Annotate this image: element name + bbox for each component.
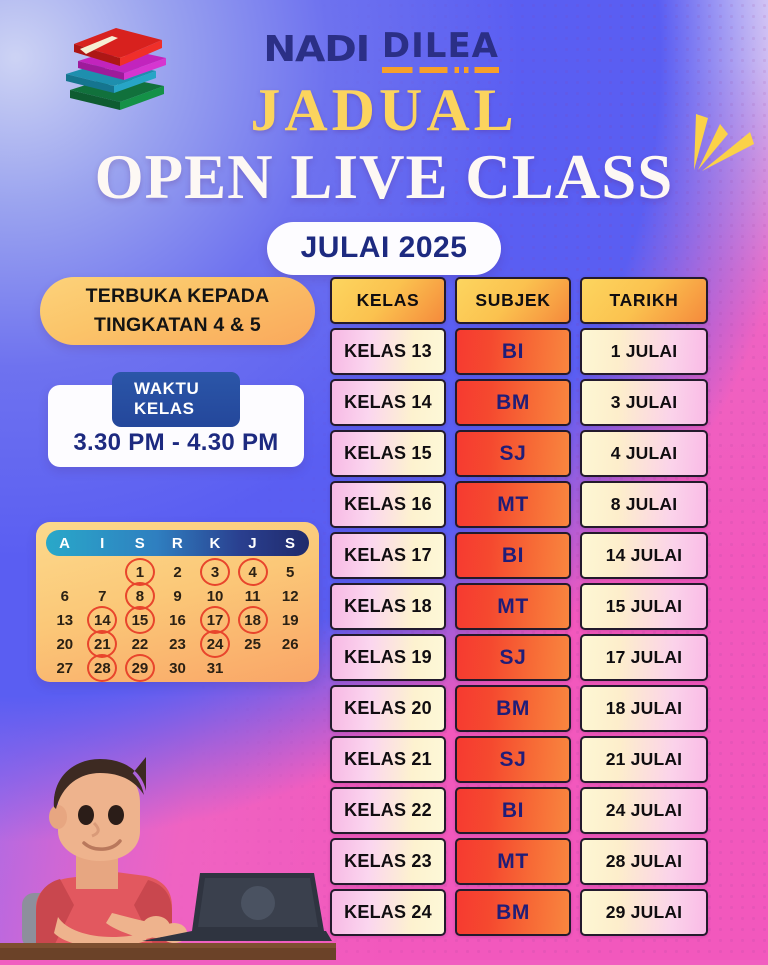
column-header-label: KELAS bbox=[357, 290, 420, 311]
date-cell-label: 15 JULAI bbox=[606, 596, 683, 617]
class-cell-label: KELAS 16 bbox=[344, 494, 432, 515]
table-row[interactable]: KELAS 19SJ17 JULAI bbox=[330, 634, 708, 681]
subject-cell-label: MT bbox=[497, 595, 529, 619]
calendar-weekday-1: I bbox=[84, 535, 122, 552]
subject-cell-label: MT bbox=[497, 850, 529, 874]
date-cell-label: 14 JULAI bbox=[606, 545, 683, 566]
calendar-empty-cell bbox=[46, 560, 84, 584]
subject-cell-label: SJ bbox=[500, 748, 527, 772]
subject-cell-label: BM bbox=[496, 391, 530, 415]
class-cell: KELAS 13 bbox=[330, 328, 446, 375]
calendar-day-highlighted[interactable]: 15 bbox=[121, 608, 159, 632]
class-cell-label: KELAS 17 bbox=[344, 545, 432, 566]
column-header-tarikh: TARIKH bbox=[580, 277, 708, 324]
eligibility-line-1: TERBUKA KEPADA bbox=[86, 282, 270, 311]
class-cell: KELAS 23 bbox=[330, 838, 446, 885]
column-header-kelas: KELAS bbox=[330, 277, 446, 324]
column-header-label: TARIKH bbox=[609, 290, 678, 311]
month-badge-label: JULAI 2025 bbox=[301, 231, 468, 264]
table-row[interactable]: KELAS 15SJ4 JULAI bbox=[330, 430, 708, 477]
subject-cell: MT bbox=[455, 481, 571, 528]
month-calendar: AISRKJS 12345678910111213141516171819202… bbox=[36, 522, 319, 682]
schedule-header-row: KELASSUBJEKTARIKH bbox=[330, 277, 708, 324]
date-cell: 14 JULAI bbox=[580, 532, 708, 579]
date-cell: 29 JULAI bbox=[580, 889, 708, 936]
subject-cell-label: BI bbox=[502, 544, 524, 568]
calendar-day[interactable]: 20 bbox=[46, 632, 84, 656]
table-row[interactable]: KELAS 21SJ21 JULAI bbox=[330, 736, 708, 783]
brand-dash-underline bbox=[382, 67, 499, 73]
date-cell-label: 3 JULAI bbox=[611, 392, 678, 413]
subject-cell: SJ bbox=[455, 430, 571, 477]
table-row[interactable]: KELAS 24BM29 JULAI bbox=[330, 889, 708, 936]
date-cell: 21 JULAI bbox=[580, 736, 708, 783]
schedule-table: KELASSUBJEKTARIKHKELAS 13BI1 JULAIKELAS … bbox=[330, 277, 708, 936]
calendar-day[interactable]: 31 bbox=[196, 656, 234, 680]
date-cell: 8 JULAI bbox=[580, 481, 708, 528]
class-cell-label: KELAS 20 bbox=[344, 698, 432, 719]
subject-cell-label: BM bbox=[496, 697, 530, 721]
subject-cell-label: SJ bbox=[500, 442, 527, 466]
eligibility-line-2: TINGKATAN 4 & 5 bbox=[94, 311, 261, 340]
calendar-weekday-header: AISRKJS bbox=[46, 530, 309, 556]
class-cell: KELAS 20 bbox=[330, 685, 446, 732]
subject-cell: BM bbox=[455, 889, 571, 936]
brand-name-primary: NADI bbox=[263, 29, 369, 70]
subject-cell-label: BI bbox=[502, 340, 524, 364]
calendar-day[interactable]: 6 bbox=[46, 584, 84, 608]
calendar-day-highlighted[interactable]: 21 bbox=[84, 632, 122, 656]
calendar-day[interactable]: 26 bbox=[271, 632, 309, 656]
class-cell-label: KELAS 18 bbox=[344, 596, 432, 617]
class-cell-label: KELAS 19 bbox=[344, 647, 432, 668]
calendar-weekday-3: R bbox=[159, 535, 197, 552]
table-row[interactable]: KELAS 14BM3 JULAI bbox=[330, 379, 708, 426]
date-cell: 24 JULAI bbox=[580, 787, 708, 834]
date-cell: 15 JULAI bbox=[580, 583, 708, 630]
class-cell: KELAS 19 bbox=[330, 634, 446, 681]
class-cell: KELAS 18 bbox=[330, 583, 446, 630]
table-row[interactable]: KELAS 20BM18 JULAI bbox=[330, 685, 708, 732]
class-time-label: WAKTU KELAS bbox=[134, 379, 199, 418]
calendar-day-highlighted[interactable]: 24 bbox=[196, 632, 234, 656]
date-cell-label: 28 JULAI bbox=[606, 851, 683, 872]
table-row[interactable]: KELAS 17BI14 JULAI bbox=[330, 532, 708, 579]
subject-cell: BI bbox=[455, 787, 571, 834]
class-cell-label: KELAS 15 bbox=[344, 443, 432, 464]
calendar-day[interactable]: 27 bbox=[46, 656, 84, 680]
class-cell: KELAS 22 bbox=[330, 787, 446, 834]
subject-cell: SJ bbox=[455, 634, 571, 681]
subject-cell: MT bbox=[455, 583, 571, 630]
class-cell: KELAS 15 bbox=[330, 430, 446, 477]
class-cell: KELAS 14 bbox=[330, 379, 446, 426]
calendar-day[interactable]: 2 bbox=[159, 560, 197, 584]
subject-cell-label: MT bbox=[497, 493, 529, 517]
class-cell: KELAS 21 bbox=[330, 736, 446, 783]
eligibility-banner: TERBUKA KEPADA TINGKATAN 4 & 5 bbox=[40, 277, 315, 345]
calendar-weekday-6: S bbox=[271, 535, 309, 552]
calendar-weekday-4: K bbox=[196, 535, 234, 552]
date-cell: 3 JULAI bbox=[580, 379, 708, 426]
class-cell-label: KELAS 14 bbox=[344, 392, 432, 413]
class-time-card: WAKTU KELAS 3.30 PM - 4.30 PM bbox=[48, 385, 304, 467]
table-row[interactable]: KELAS 18MT15 JULAI bbox=[330, 583, 708, 630]
calendar-day[interactable]: 16 bbox=[159, 608, 197, 632]
date-cell-label: 4 JULAI bbox=[611, 443, 678, 464]
date-cell-label: 8 JULAI bbox=[611, 494, 678, 515]
calendar-weekday-0: A bbox=[46, 535, 84, 552]
calendar-weekday-5: J bbox=[234, 535, 272, 552]
calendar-day[interactable]: 11 bbox=[234, 584, 272, 608]
date-cell: 4 JULAI bbox=[580, 430, 708, 477]
subject-cell: BI bbox=[455, 328, 571, 375]
calendar-day-highlighted[interactable]: 29 bbox=[121, 656, 159, 680]
page-title: JADUAL bbox=[0, 80, 768, 140]
calendar-day-grid: 1234567891011121314151617181920212223242… bbox=[46, 560, 309, 680]
subject-cell: SJ bbox=[455, 736, 571, 783]
table-row[interactable]: KELAS 22BI24 JULAI bbox=[330, 787, 708, 834]
class-cell-label: KELAS 21 bbox=[344, 749, 432, 770]
subject-cell: BM bbox=[455, 379, 571, 426]
class-cell-label: KELAS 22 bbox=[344, 800, 432, 821]
date-cell: 18 JULAI bbox=[580, 685, 708, 732]
subject-cell: BM bbox=[455, 685, 571, 732]
brand-name-secondary: DILEA bbox=[382, 26, 499, 66]
page-subtitle: OPEN LIVE CLASS bbox=[0, 144, 768, 210]
calendar-day-highlighted[interactable]: 3 bbox=[196, 560, 234, 584]
calendar-day[interactable]: 13 bbox=[46, 608, 84, 632]
calendar-day[interactable]: 23 bbox=[159, 632, 197, 656]
calendar-day-highlighted[interactable]: 28 bbox=[84, 656, 122, 680]
subject-cell: BI bbox=[455, 532, 571, 579]
subject-cell-label: SJ bbox=[500, 646, 527, 670]
class-cell-label: KELAS 23 bbox=[344, 851, 432, 872]
subject-cell-label: BI bbox=[502, 799, 524, 823]
calendar-empty-cell bbox=[84, 560, 122, 584]
calendar-day[interactable]: 12 bbox=[271, 584, 309, 608]
class-cell: KELAS 17 bbox=[330, 532, 446, 579]
calendar-day-highlighted[interactable]: 8 bbox=[121, 584, 159, 608]
poster-title-block: JADUAL OPEN LIVE CLASS JULAI 2025 bbox=[0, 80, 768, 275]
table-row[interactable]: KELAS 13BI1 JULAI bbox=[330, 328, 708, 375]
subject-cell-label: BM bbox=[496, 901, 530, 925]
date-cell: 17 JULAI bbox=[580, 634, 708, 681]
calendar-weekday-2: S bbox=[121, 535, 159, 552]
date-cell-label: 1 JULAI bbox=[611, 341, 678, 362]
column-header-subjek: SUBJEK bbox=[455, 277, 571, 324]
class-cell: KELAS 24 bbox=[330, 889, 446, 936]
calendar-day[interactable]: 30 bbox=[159, 656, 197, 680]
date-cell-label: 24 JULAI bbox=[606, 800, 683, 821]
date-cell: 1 JULAI bbox=[580, 328, 708, 375]
calendar-day-highlighted[interactable]: 4 bbox=[234, 560, 272, 584]
class-cell: KELAS 16 bbox=[330, 481, 446, 528]
month-badge: JULAI 2025 bbox=[267, 222, 502, 275]
calendar-day[interactable]: 22 bbox=[121, 632, 159, 656]
table-row[interactable]: KELAS 16MT8 JULAI bbox=[330, 481, 708, 528]
calendar-day[interactable]: 5 bbox=[271, 560, 309, 584]
date-cell-label: 18 JULAI bbox=[606, 698, 683, 719]
class-time-value: 3.30 PM - 4.30 PM bbox=[48, 429, 304, 457]
calendar-day[interactable]: 19 bbox=[271, 608, 309, 632]
subject-cell: MT bbox=[455, 838, 571, 885]
calendar-day-highlighted[interactable]: 1 bbox=[121, 560, 159, 584]
class-cell-label: KELAS 24 bbox=[344, 902, 432, 923]
date-cell-label: 21 JULAI bbox=[606, 749, 683, 770]
calendar-day-highlighted[interactable]: 17 bbox=[196, 608, 234, 632]
calendar-day[interactable]: 10 bbox=[196, 584, 234, 608]
student-at-laptop-icon bbox=[0, 745, 336, 960]
calendar-day[interactable]: 7 bbox=[84, 584, 122, 608]
brand-logo: NADI DILEA bbox=[0, 26, 768, 73]
table-row[interactable]: KELAS 23MT28 JULAI bbox=[330, 838, 708, 885]
date-cell: 28 JULAI bbox=[580, 838, 708, 885]
calendar-day[interactable]: 25 bbox=[234, 632, 272, 656]
date-cell-label: 29 JULAI bbox=[606, 902, 683, 923]
column-header-label: SUBJEK bbox=[475, 290, 550, 311]
calendar-day-highlighted[interactable]: 18 bbox=[234, 608, 272, 632]
calendar-day-highlighted[interactable]: 14 bbox=[84, 608, 122, 632]
calendar-day[interactable]: 9 bbox=[159, 584, 197, 608]
class-time-label-pill: WAKTU KELAS bbox=[112, 372, 240, 427]
date-cell-label: 17 JULAI bbox=[606, 647, 683, 668]
class-cell-label: KELAS 13 bbox=[344, 341, 432, 362]
